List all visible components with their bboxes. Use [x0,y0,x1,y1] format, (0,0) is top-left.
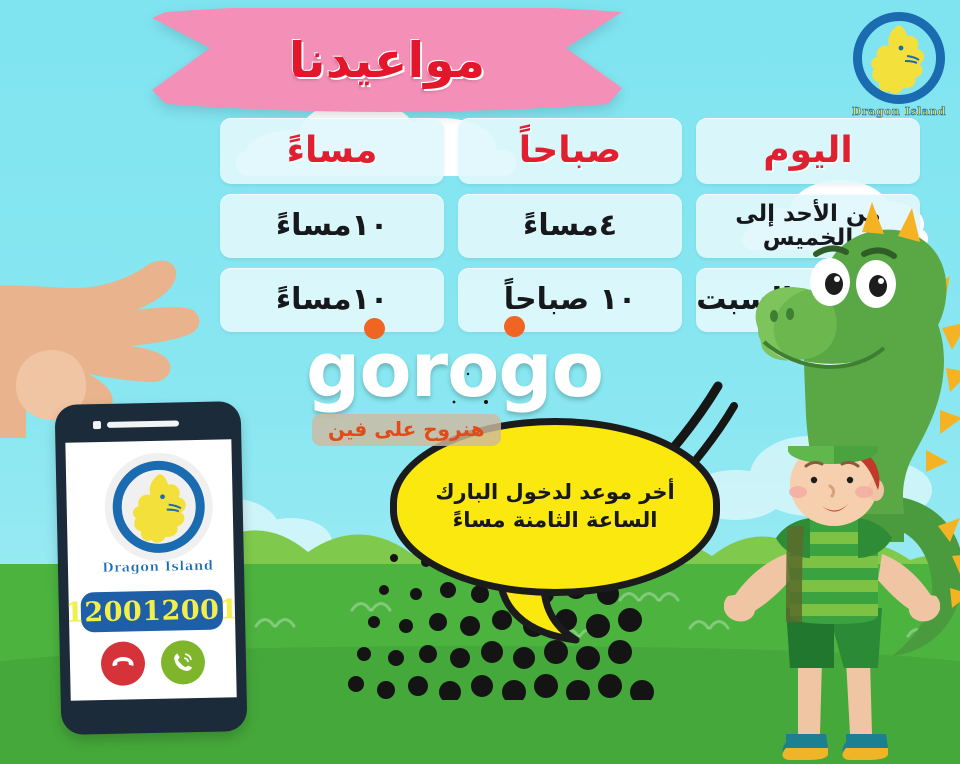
phone-camera-icon [93,421,101,429]
notice-line-2: الساعة الثامنة مساءً [453,507,658,535]
table-header-row: اليوم صباحاً مساءً [220,118,920,184]
title-ribbon: مواعيدنا [152,8,622,112]
phone-decline-icon[interactable] [101,641,146,686]
phone-answer-icon[interactable] [161,640,206,685]
page-title: مواعيدنا [152,8,622,118]
logo-label: Dragon Island [84,558,232,576]
cell-evening: ١٠مساءً [220,194,444,258]
header-label-morning: صباحاً [519,133,621,169]
header-cell-morning: صباحاً [458,118,682,184]
brand-logo: Dragon Island [845,8,953,120]
logo-label: Dragon Island [845,105,953,118]
cell-morning: ٤مساءً [458,194,682,258]
header-cell-day: اليوم [696,118,920,184]
header-label-evening: مساءً [287,133,378,169]
notice-bubble-wrap: أخر موعد لدخول البارك الساعة الثامنة مسا… [372,390,744,650]
cell-evening: ١٠مساءً [220,268,444,332]
hand-icon [0,138,240,438]
dragon-head-icon [867,24,931,98]
notice-bubble: أخر موعد لدخول البارك الساعة الثامنة مسا… [390,418,720,596]
phone-brand-logo: Dragon Island [82,449,233,580]
phone-number[interactable]: 01200120015 [80,590,223,633]
notice-line-1: أخر موعد لدخول البارك [435,479,674,507]
poster-canvas: مواعيدنا Dragon Island اليوم صباحاً مساء… [0,0,960,764]
cell-value-evening: ١٠مساءً [276,284,388,316]
phone-screen: Dragon Island 01200120015 [65,439,236,700]
boy-character-icon [724,446,940,764]
header-cell-evening: مساءً [220,118,444,184]
cell-value-morning: ١٠ صباحاً [504,284,636,316]
header-label-day: اليوم [763,133,853,169]
phone-mockup: Dragon Island 01200120015 [55,401,248,735]
dragon-head-icon [128,472,194,547]
cell-value-morning: ٤مساءً [523,210,617,242]
call-buttons [70,639,237,686]
cell-value-evening: ١٠مساءً [276,210,388,242]
cell-morning: ١٠ صباحاً [458,268,682,332]
